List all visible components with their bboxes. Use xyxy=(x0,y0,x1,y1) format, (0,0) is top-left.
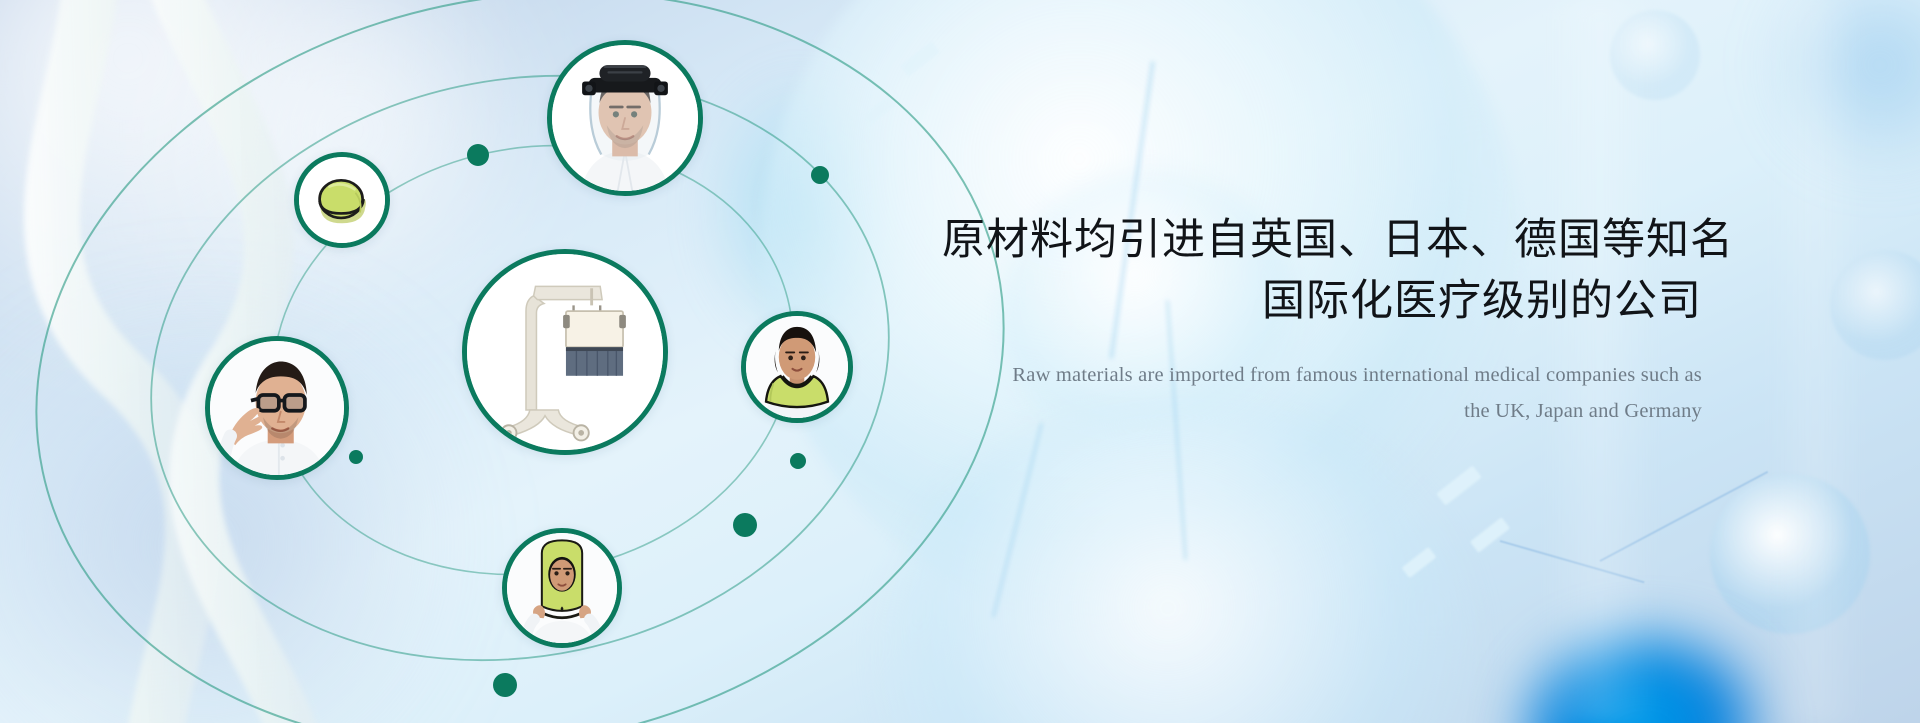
orbit-dot-upper xyxy=(467,144,489,166)
mobile-x-ray-barrier-illustration xyxy=(467,254,663,450)
hero-copy: 原材料均引进自英国、日本、德国等知名 国际化医疗级别的公司 Raw materi… xyxy=(942,210,1702,430)
orbit-dot-center xyxy=(733,513,757,537)
page-subtitle: Raw materials are imported from famous i… xyxy=(942,358,1702,430)
headline-line-1: 原材料均引进自英国、日本、德国等知名 xyxy=(942,216,1734,264)
thyroid-collar-illustration xyxy=(746,316,848,418)
product-bubble-lead-cap[interactable] xyxy=(294,152,390,248)
page-title: 原材料均引进自英国、日本、德国等知名 国际化医疗级别的公司 xyxy=(942,210,1702,332)
subtitle-line-2: the UK, Japan and Germany xyxy=(1464,400,1702,422)
decor-dash xyxy=(1470,517,1510,553)
product-bubble-mobile-x-ray-barrier[interactable] xyxy=(462,249,668,455)
headline-line-2: 国际化医疗级别的公司 xyxy=(942,271,1702,332)
lead-glasses-illustration xyxy=(210,341,344,475)
orbit-dot-bottom xyxy=(493,673,517,697)
light-band xyxy=(1770,0,1860,723)
product-bubble-lead-hood[interactable] xyxy=(502,528,622,648)
orbit-dot-mid xyxy=(349,450,363,464)
product-bubble-lead-face-shield-mask[interactable] xyxy=(547,40,703,196)
product-bubble-lead-glasses[interactable] xyxy=(205,336,349,480)
product-bubble-thyroid-collar[interactable] xyxy=(741,311,853,423)
lead-hood-illustration xyxy=(507,533,617,643)
lead-face-shield-mask-illustration xyxy=(552,45,698,191)
hero-banner: 原材料均引进自英国、日本、德国等知名 国际化医疗级别的公司 Raw materi… xyxy=(0,0,1920,723)
orbit-dot-right xyxy=(811,166,829,184)
orbit-dot-lower xyxy=(790,453,806,469)
subtitle-line-1: Raw materials are imported from famous i… xyxy=(1012,364,1702,386)
lead-cap-illustration xyxy=(299,157,385,243)
